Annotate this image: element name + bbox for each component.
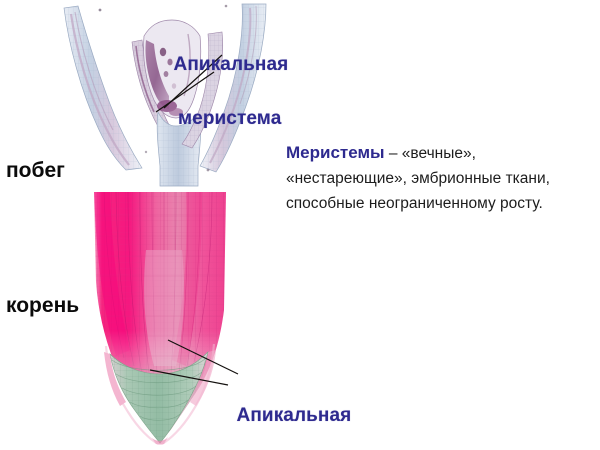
label-apical-meristem-shoot-line2: меристема [152, 105, 288, 132]
label-apical-meristem-root: Апикальная меристема [215, 371, 351, 450]
label-shoot: побег [6, 159, 65, 183]
definition-term: Меристемы [286, 143, 385, 162]
slide-canvas: Апикальная меристема Апикальная меристем… [0, 0, 600, 450]
definition-text: Меристемы – «вечные», «нестареющие», эмб… [286, 140, 586, 216]
leaf-primordium-left [64, 6, 142, 170]
label-root: корень [6, 294, 79, 318]
label-apical-meristem-root-line1: Апикальная [237, 405, 352, 426]
label-apical-meristem-shoot-line1: Апикальная [174, 54, 289, 75]
label-apical-meristem-shoot: Апикальная меристема [152, 24, 288, 186]
